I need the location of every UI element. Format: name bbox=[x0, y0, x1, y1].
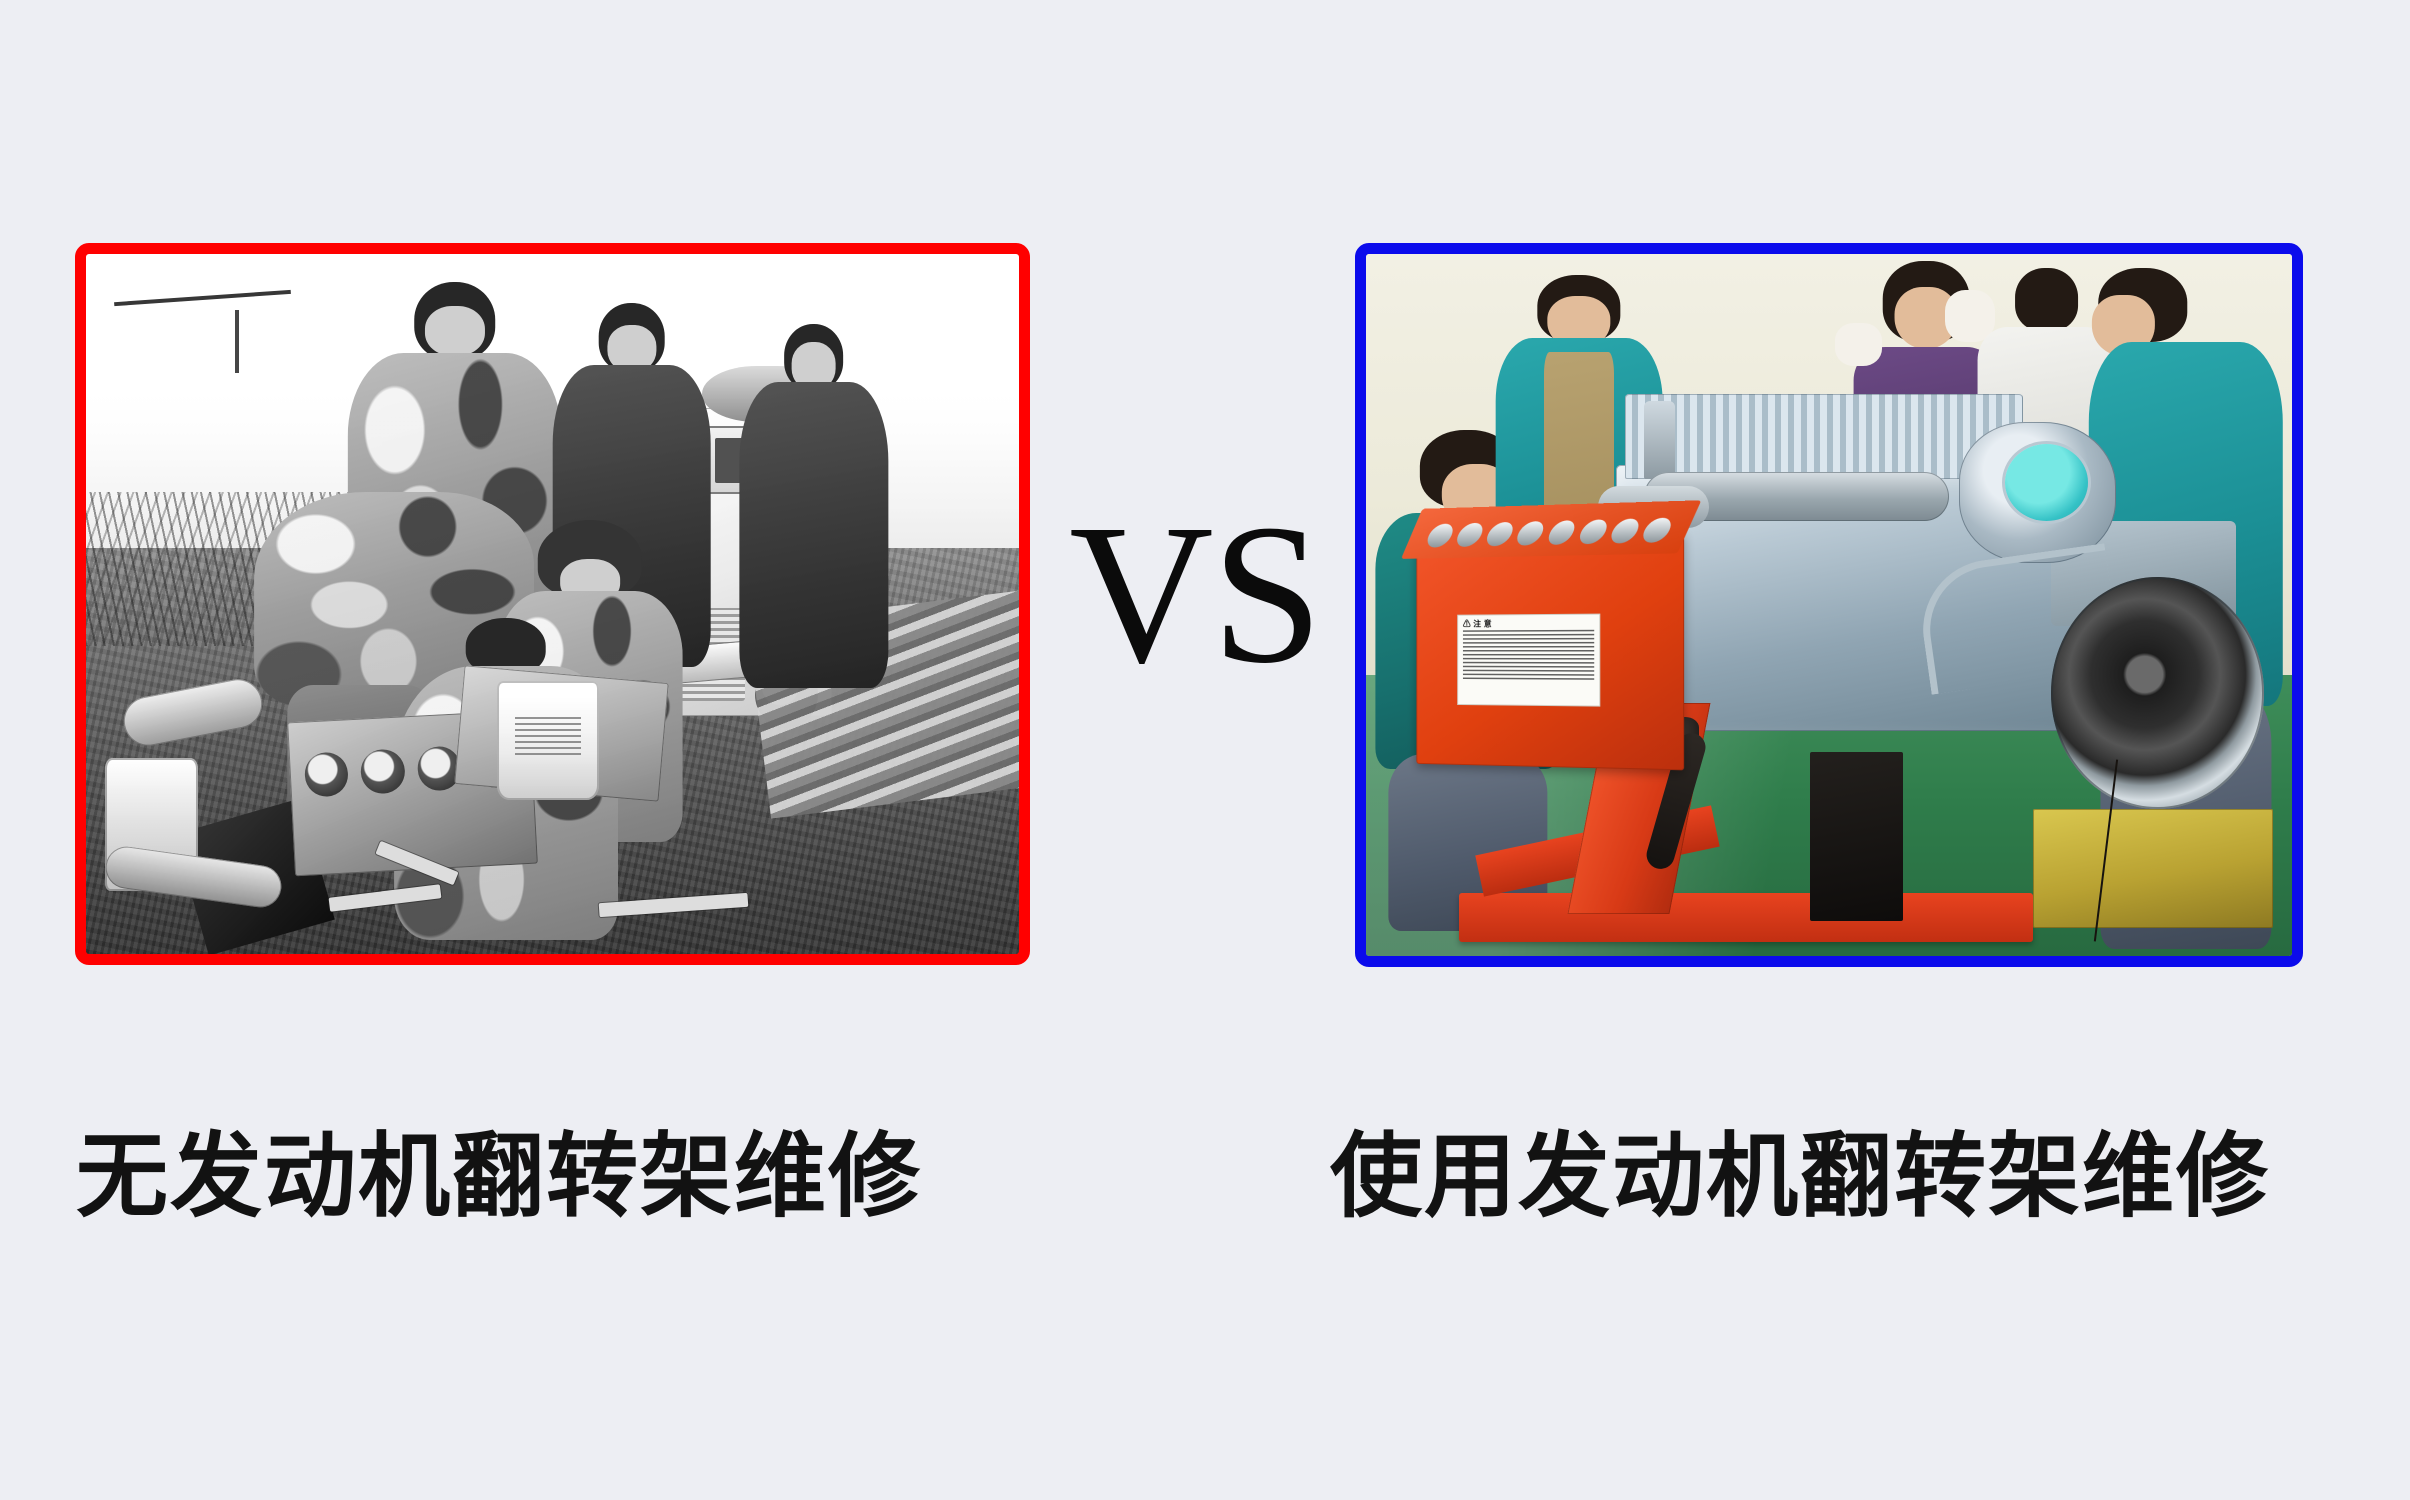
warning-label: ⚠ 注 意 bbox=[1457, 613, 1600, 707]
left-caption: 无发动机翻转架维修 bbox=[76, 1125, 922, 1229]
wrench bbox=[1639, 517, 1675, 543]
flywheel bbox=[2051, 577, 2264, 809]
versus-label: VS bbox=[1045, 495, 1345, 695]
wrench-set bbox=[1412, 505, 1689, 558]
right-photo: ⚠ 注 意 bbox=[1366, 254, 2292, 956]
left-photo-frame[interactable] bbox=[75, 243, 1030, 965]
red-tool-chest: ⚠ 注 意 bbox=[1417, 531, 1684, 769]
right-caption: 使用发动机翻转架维修 bbox=[1330, 1125, 2270, 1229]
wrench bbox=[1424, 523, 1457, 547]
wrench bbox=[1514, 520, 1548, 545]
turnover-stand-base bbox=[1459, 893, 2033, 942]
wrench bbox=[1545, 520, 1580, 545]
white-glove bbox=[1835, 323, 1882, 366]
wrench bbox=[1576, 519, 1611, 544]
turbo-cap bbox=[2005, 444, 2088, 521]
engine-support-bracket bbox=[1810, 752, 1903, 920]
wrench bbox=[1484, 521, 1518, 546]
worker-face bbox=[424, 306, 484, 357]
comparison-stage: 无发动机翻转架维修 VS bbox=[0, 0, 2410, 1500]
worker-jacket bbox=[739, 382, 888, 688]
paint-bucket bbox=[497, 681, 600, 800]
cylinder-bore bbox=[304, 751, 350, 797]
brass-drip-tray bbox=[2033, 809, 2274, 928]
lifting-lug bbox=[1644, 401, 1675, 478]
pole-dropline bbox=[235, 310, 239, 373]
wrench bbox=[1454, 522, 1487, 547]
warning-label-text bbox=[1463, 629, 1594, 681]
technician-head bbox=[2015, 268, 2079, 331]
worker-standing-3 bbox=[739, 324, 888, 688]
left-photo bbox=[86, 254, 1019, 954]
right-photo-frame[interactable]: ⚠ 注 意 bbox=[1355, 243, 2303, 967]
cylinder-bore bbox=[360, 748, 406, 794]
warning-label-title: ⚠ 注 意 bbox=[1463, 618, 1594, 628]
wrench bbox=[1608, 518, 1644, 543]
